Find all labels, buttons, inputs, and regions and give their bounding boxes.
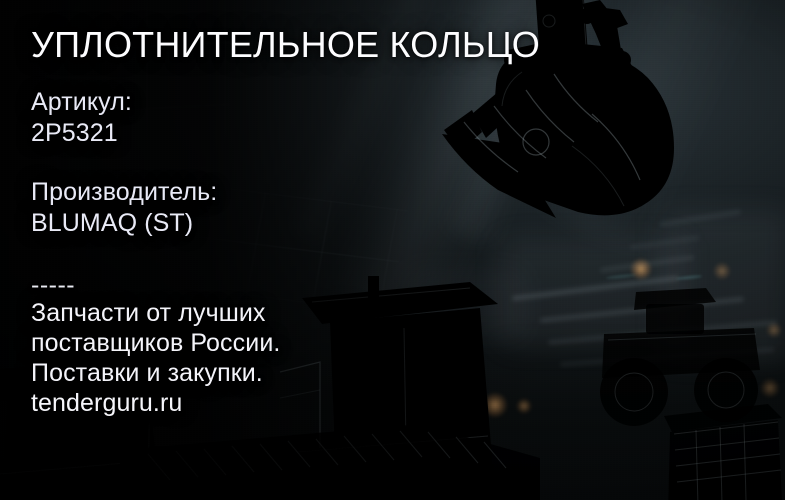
- field-manufacturer: Производитель: BLUMAQ (ST): [31, 177, 217, 239]
- field-article-label: Артикул:: [31, 87, 132, 118]
- promo-line-3: Поставки и закупки.: [31, 358, 280, 388]
- site-url[interactable]: tenderguru.ru: [31, 388, 280, 418]
- field-manufacturer-value: BLUMAQ (ST): [31, 208, 217, 239]
- product-banner: УПЛОТНИТЕЛЬНОЕ КОЛЬЦО Артикул: 2P5321 Пр…: [0, 0, 785, 500]
- separator-dashes: -----: [31, 272, 280, 298]
- product-title: УПЛОТНИТЕЛЬНОЕ КОЛЬЦО: [31, 24, 540, 66]
- field-article: Артикул: 2P5321: [31, 87, 132, 149]
- banner-content: УПЛОТНИТЕЛЬНОЕ КОЛЬЦО Артикул: 2P5321 Пр…: [0, 0, 785, 500]
- field-manufacturer-label: Производитель:: [31, 177, 217, 208]
- promo-line-2: поставщиков России.: [31, 328, 280, 358]
- promo-line-1: Запчасти от лучших: [31, 298, 280, 328]
- field-article-value: 2P5321: [31, 118, 132, 149]
- promo-block: ----- Запчасти от лучших поставщиков Рос…: [31, 272, 280, 418]
